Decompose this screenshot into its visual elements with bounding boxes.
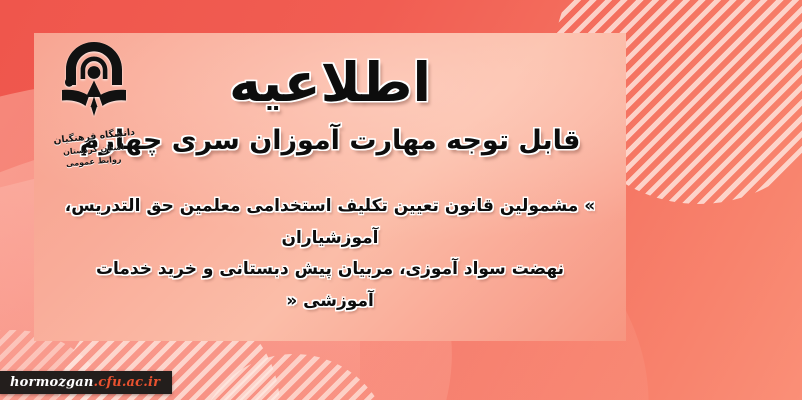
page-title: اطلاعیه	[229, 55, 431, 112]
watermark-site-name: hormozgan	[10, 375, 94, 390]
poster-subtitle: قابل توجه مهارت آموزان سری چهارم	[80, 124, 581, 158]
poster-canvas: دانشگاه فرهنگیان استان کردستان روابط عمو…	[0, 0, 802, 400]
university-logo: دانشگاه فرهنگیان استان کردستان روابط عمو…	[46, 39, 142, 204]
site-watermark: hormozgan .cfu.ac.ir	[0, 371, 172, 394]
poster-body: » مشمولین قانون تعیین تکلیف استخدامی معل…	[60, 191, 600, 317]
striped-circle-bottom-center-icon	[196, 354, 392, 400]
poster-body-line-2: نهضت سواد آموزی، مربیان پیش دبستانی و خر…	[60, 254, 600, 317]
watermark-site-domain: .cfu.ac.ir	[94, 375, 161, 390]
farhangian-university-emblem-icon	[57, 39, 131, 131]
content-panel: دانشگاه فرهنگیان استان کردستان روابط عمو…	[34, 33, 626, 341]
logo-caption-line-3: روابط عمومی	[66, 155, 122, 170]
